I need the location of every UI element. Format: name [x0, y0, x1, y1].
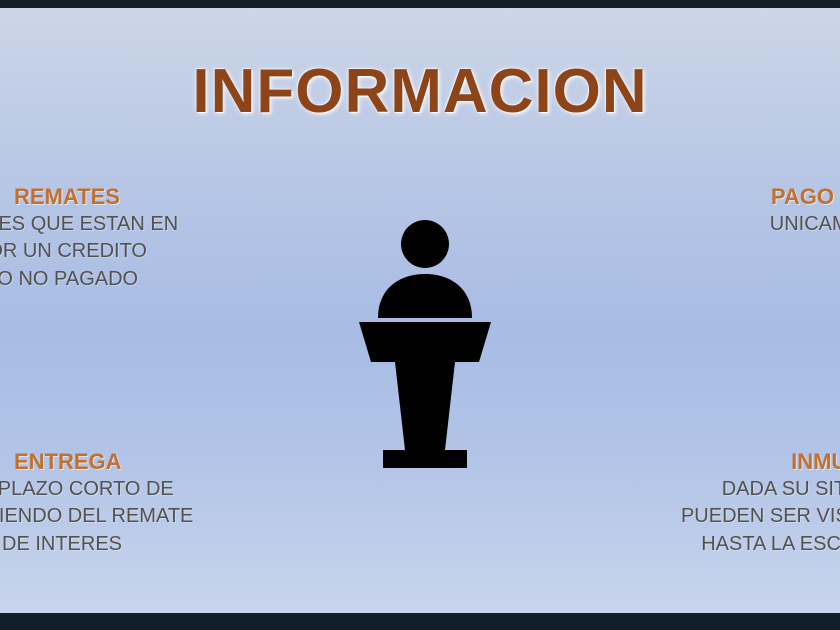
quadrant-pago-heading: PAGO [770, 183, 840, 211]
quadrant-inmuebles-heading: INMUEBLE [681, 448, 840, 476]
quadrant-entrega-line-1: DE UN PLAZO CORTO DE [0, 476, 193, 504]
quadrant-pago: PAGO UNICAMENTE CON [770, 183, 840, 238]
quadrant-remates-heading: REMATES [0, 183, 178, 211]
page-title: INFORMACION [0, 56, 840, 127]
quadrant-inmuebles: INMUEBLE DADA SU SITUACION PUEDEN SER VI… [681, 448, 840, 558]
slide-canvas: INFORMACION REMATES PIEDADES QUE ESTAN E… [0, 8, 840, 613]
quadrant-entrega-heading: ENTREGA [0, 448, 193, 476]
quadrant-inmuebles-line-1: DADA SU SITUACION [681, 476, 840, 504]
letterbox-top-bar [0, 0, 840, 8]
quadrant-entrega-line-3: DE INTERES [0, 531, 193, 559]
podium-speaker-icon [353, 218, 497, 480]
quadrant-entrega: ENTREGA DE UN PLAZO CORTO DE EPENDIENDO … [0, 448, 193, 558]
quadrant-entrega-line-2: EPENDIENDO DEL REMATE [0, 503, 193, 531]
quadrant-pago-line-1: UNICAMENTE CON [770, 211, 840, 239]
letterbox-bottom-bar [0, 613, 840, 630]
quadrant-inmuebles-line-3: HASTA LA ESCRITUR [681, 531, 840, 559]
quadrant-remates-line-3: TECARIO NO PAGADO [0, 266, 178, 294]
quadrant-remates-line-2: NTIA POR UN CREDITO [0, 238, 178, 266]
presentation-slide: INFORMACION REMATES PIEDADES QUE ESTAN E… [0, 0, 840, 630]
quadrant-inmuebles-line-2: PUEDEN SER VISTOS PO [681, 503, 840, 531]
quadrant-remates-line-1: PIEDADES QUE ESTAN EN [0, 211, 178, 239]
quadrant-remates: REMATES PIEDADES QUE ESTAN EN NTIA POR U… [0, 183, 178, 293]
